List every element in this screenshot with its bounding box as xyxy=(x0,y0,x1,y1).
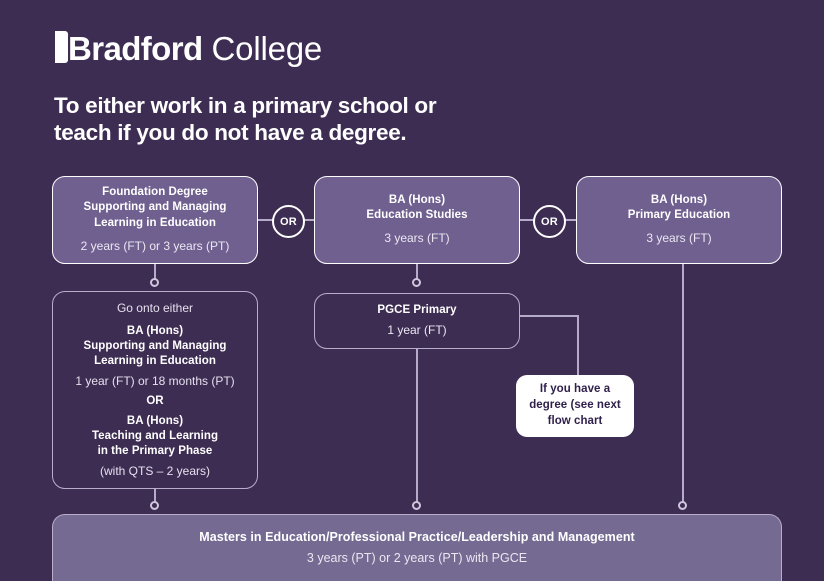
box-primary-title-2: Primary Education xyxy=(628,208,730,223)
box-ba-education-studies[interactable]: BA (Hons) Education Studies 3 years (FT) xyxy=(314,176,520,264)
flowchart-canvas: BradfordCollege To either work in a prim… xyxy=(0,0,824,581)
pgce-title: PGCE Primary xyxy=(377,303,456,318)
box-education-title-1: BA (Hons) xyxy=(389,193,445,208)
go-onto-option-a-line-1: BA (Hons) xyxy=(127,324,183,339)
page-title: To either work in a primary school or te… xyxy=(54,92,614,147)
go-onto-option-b-line-3: in the Primary Phase xyxy=(98,444,213,459)
go-onto-option-b-duration: (with QTS – 2 years) xyxy=(100,463,210,480)
box-primary-title-1: BA (Hons) xyxy=(651,193,707,208)
connector-pgce-to-callout-horizontal xyxy=(520,315,578,317)
go-onto-option-a-line-3: Learning in Education xyxy=(94,354,216,369)
box-primary-duration: 3 years (FT) xyxy=(646,230,711,247)
go-onto-option-b-line-1: BA (Hons) xyxy=(127,414,183,429)
connector-pgce-down xyxy=(416,349,418,505)
box-education-title-2: Education Studies xyxy=(366,208,467,223)
go-onto-option-b-line-2: Teaching and Learning xyxy=(92,429,218,444)
callout-line-2: degree (see next xyxy=(529,398,621,414)
box-foundation-duration: 2 years (FT) or 3 years (PT) xyxy=(81,238,230,255)
connector-ring-pgce xyxy=(412,501,421,510)
masters-duration: 3 years (PT) or 2 years (PT) with PGCE xyxy=(307,550,527,568)
box-foundation-title-3: Learning in Education xyxy=(94,216,216,231)
box-foundation-degree[interactable]: Foundation Degree Supporting and Managin… xyxy=(52,176,258,264)
connector-ring-primary xyxy=(678,501,687,510)
bradford-b-mark-icon xyxy=(55,31,68,63)
masters-title: Masters in Education/Professional Practi… xyxy=(199,529,634,546)
logo-name-bold: Bradford xyxy=(68,30,203,68)
connector-primary-down-to-masters xyxy=(682,264,684,504)
page-title-line-1: To either work in a primary school or xyxy=(54,92,614,119)
box-foundation-title-1: Foundation Degree xyxy=(102,185,208,200)
box-pgce-primary[interactable]: PGCE Primary 1 year (FT) xyxy=(314,293,520,349)
connector-ring-goonto xyxy=(150,501,159,510)
or-badge-2: OR xyxy=(533,205,566,238)
callout-line-1: If you have a xyxy=(540,382,610,398)
go-onto-separator: OR xyxy=(146,394,163,409)
box-foundation-title-2: Supporting and Managing xyxy=(84,200,227,215)
go-onto-option-a-line-2: Supporting and Managing xyxy=(84,339,227,354)
connector-pgce-to-callout-vertical xyxy=(577,315,579,377)
bradford-college-logo: BradfordCollege xyxy=(55,28,322,68)
box-go-onto-either[interactable]: Go onto either BA (Hons) Supporting and … xyxy=(52,291,258,489)
connector-ring-education xyxy=(412,278,421,287)
callout-if-you-have-a-degree[interactable]: If you have a degree (see next flow char… xyxy=(516,375,634,437)
page-title-line-2: teach if you do not have a degree. xyxy=(54,119,614,146)
or-badge-1: OR xyxy=(272,205,305,238)
logo-name-light: College xyxy=(212,30,323,68)
go-onto-intro: Go onto either xyxy=(117,300,193,317)
connector-ring-foundation xyxy=(150,278,159,287)
box-education-duration: 3 years (FT) xyxy=(384,230,449,247)
box-ba-primary-education[interactable]: BA (Hons) Primary Education 3 years (FT) xyxy=(576,176,782,264)
callout-line-3: flow chart xyxy=(548,414,603,430)
box-masters-in-education[interactable]: Masters in Education/Professional Practi… xyxy=(52,514,782,581)
go-onto-option-a-duration: 1 year (FT) or 18 months (PT) xyxy=(75,373,234,390)
pgce-duration: 1 year (FT) xyxy=(387,322,446,339)
